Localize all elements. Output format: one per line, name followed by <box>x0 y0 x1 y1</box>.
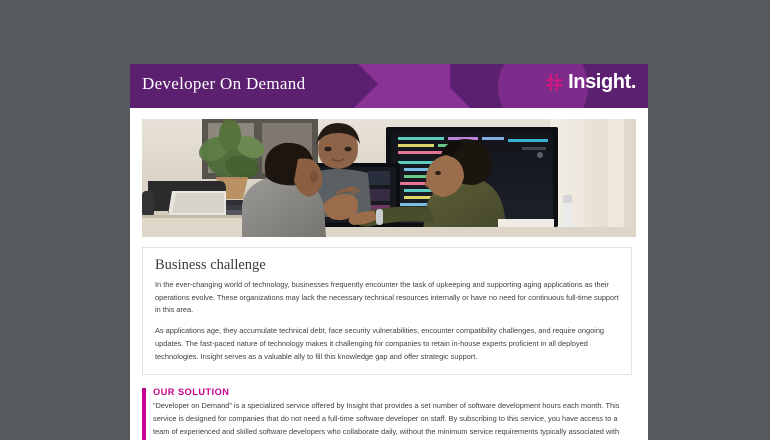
insight-logo-text: Insight. <box>568 72 636 92</box>
header-shape-chevron-2 <box>352 64 476 108</box>
page-title: Developer On Demand <box>142 74 305 94</box>
header-shape-block <box>376 64 450 108</box>
our-solution-accent-bar <box>142 388 146 440</box>
document-page: Developer On Demand Insight. <box>130 64 648 440</box>
screenshot-viewport: Developer On Demand Insight. <box>0 0 770 440</box>
header-shape-chevron <box>310 64 420 108</box>
page-header-band: Developer On Demand Insight. <box>130 64 648 108</box>
insight-hash-icon <box>545 73 564 92</box>
insight-logo: Insight. <box>545 72 636 92</box>
our-solution-section: OUR SOLUTION “Developer on Demand” is a … <box>142 387 632 440</box>
business-challenge-paragraph-1: In the ever-changing world of technology… <box>155 279 619 317</box>
our-solution-title: OUR SOLUTION <box>153 387 632 397</box>
business-challenge-card: Business challenge In the ever-changing … <box>142 247 632 375</box>
hero-photo <box>142 119 636 237</box>
business-challenge-paragraph-2: As applications age, they accumulate tec… <box>155 325 619 363</box>
business-challenge-title: Business challenge <box>155 257 619 274</box>
our-solution-body: “Developer on Demand” is a specialized s… <box>153 400 632 440</box>
